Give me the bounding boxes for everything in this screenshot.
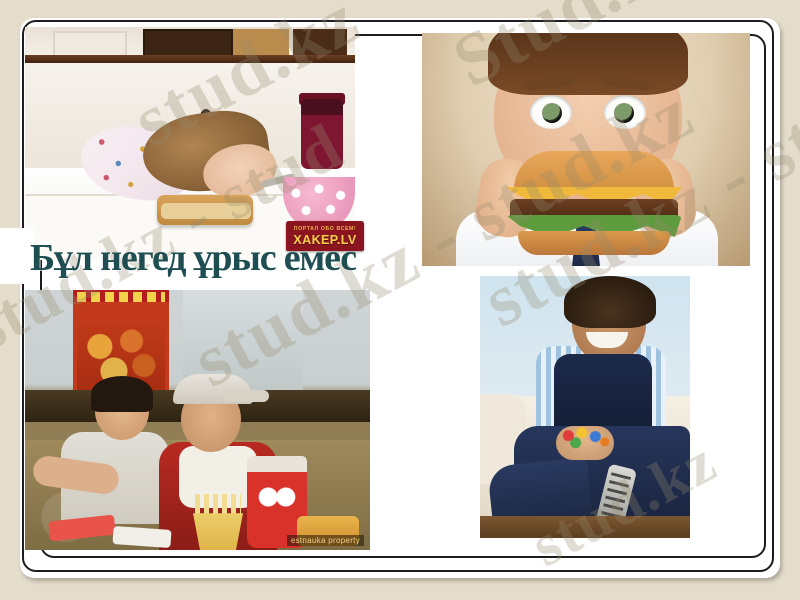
jam-jar [301, 99, 343, 169]
french-fries-sticks [195, 494, 241, 514]
slide-title: Бұл негед ұрыс емес [30, 236, 790, 280]
xakep-lv-logo: ПОРТАЛ ОБО ВСЕМ! XAKEP.LV [286, 221, 364, 251]
soda-cup-logo [255, 486, 299, 508]
xakep-logo-name: XAKEP.LV [286, 233, 364, 247]
title-band-left-cap [0, 228, 34, 284]
boy-hair [488, 33, 688, 95]
cabinet-panel-light [53, 31, 127, 57]
candy-boy-hair [564, 276, 656, 328]
boy-iris-left [542, 103, 562, 123]
photo-kids-fastfood: estnauka property [25, 290, 370, 550]
handful-of-candy [560, 426, 612, 450]
wooden-floor [480, 516, 690, 538]
cabinet-panel-brown [293, 29, 347, 55]
slide-canvas: estnauka property stud.kz Stud.kz stud.k… [0, 0, 800, 600]
cap-brim [225, 390, 269, 402]
image-watermark-estnauka: estnauka property [287, 535, 364, 546]
photo-boy-burger [422, 33, 750, 266]
bread-slice-top [161, 203, 251, 219]
photo-boy-candy [480, 276, 690, 538]
kitchen-counter-edge [25, 55, 355, 63]
boy-iris-right [614, 103, 634, 123]
menu-poster-text [77, 292, 165, 302]
xakep-logo-subtitle: ПОРТАЛ ОБО ВСЕМ! [286, 226, 364, 232]
left-child-hair [91, 376, 153, 412]
cabinet-panel-wood [233, 29, 289, 55]
burger-top-bun [514, 151, 674, 193]
